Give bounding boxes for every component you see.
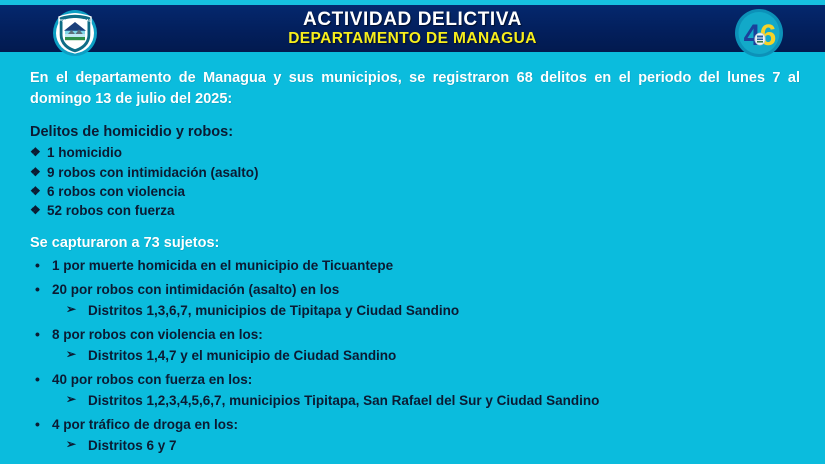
dot-bullet-icon: • bbox=[35, 325, 40, 343]
capture-sub-line: ➢ Distritos 1,3,6,7, municipios de Tipit… bbox=[30, 302, 803, 320]
list-item: ❖ 52 robos con fuerza bbox=[30, 202, 803, 220]
capture-label: 1 por muerte homicida en el municipio de… bbox=[52, 258, 393, 273]
capture-main-line: • 20 por robos con intimidación (asalto)… bbox=[30, 281, 803, 299]
list-item: • 40 por robos con fuerza en los: ➢ Dist… bbox=[30, 371, 803, 410]
capture-label: 40 por robos con fuerza en los: bbox=[52, 372, 252, 387]
capture-sub-label: Distritos 1,4,7 y el municipio de Ciudad… bbox=[88, 348, 396, 363]
dot-bullet-icon: • bbox=[35, 415, 40, 433]
captures-list: • 1 por muerte homicida en el municipio … bbox=[30, 257, 803, 455]
header-band: POLICIA NACIONAL ACTIVIDAD DELICTIVA DEP… bbox=[0, 5, 825, 52]
slide-root: POLICIA NACIONAL ACTIVIDAD DELICTIVA DEP… bbox=[0, 0, 825, 464]
46-aniversario-logo-icon: 4 6 bbox=[733, 8, 785, 58]
capture-label: 4 por tráfico de droga en los: bbox=[52, 417, 238, 432]
capture-sub-line: ➢ Distritos 6 y 7 bbox=[30, 437, 803, 455]
dot-bullet-icon: • bbox=[35, 370, 40, 388]
diamond-bullet-icon: ❖ bbox=[30, 144, 41, 160]
intro-paragraph: En el departamento de Managua y sus muni… bbox=[30, 68, 800, 110]
arrow-bullet-icon: ➢ bbox=[66, 302, 76, 318]
diamond-bullet-icon: ❖ bbox=[30, 164, 41, 180]
capture-label: 20 por robos con intimidación (asalto) e… bbox=[52, 282, 339, 297]
header-title-group: ACTIVIDAD DELICTIVA DEPARTAMENTO DE MANA… bbox=[288, 10, 537, 47]
capture-sub-line: ➢ Distritos 1,4,7 y el municipio de Ciud… bbox=[30, 347, 803, 365]
capture-main-line: • 40 por robos con fuerza en los: bbox=[30, 371, 803, 389]
capture-sub-line: ➢ Distritos 1,2,3,4,5,6,7, municipios Ti… bbox=[30, 392, 803, 410]
list-item: • 4 por tráfico de droga en los: ➢ Distr… bbox=[30, 416, 803, 455]
svg-text:POLICIA NACIONAL: POLICIA NACIONAL bbox=[59, 18, 91, 22]
dot-bullet-icon: • bbox=[35, 256, 40, 274]
list-item: ❖ 1 homicidio bbox=[30, 144, 803, 162]
list-item: • 1 por muerte homicida en el municipio … bbox=[30, 257, 803, 275]
capture-main-line: • 1 por muerte homicida en el municipio … bbox=[30, 257, 803, 275]
list-item: • 8 por robos con violencia en los: ➢ Di… bbox=[30, 326, 803, 365]
arrow-bullet-icon: ➢ bbox=[66, 437, 76, 453]
arrow-bullet-icon: ➢ bbox=[66, 392, 76, 408]
diamond-bullet-icon: ❖ bbox=[30, 183, 41, 199]
arrow-bullet-icon: ➢ bbox=[66, 347, 76, 363]
capture-main-line: • 4 por tráfico de droga en los: bbox=[30, 416, 803, 434]
list-item: ❖ 9 robos con intimidación (asalto) bbox=[30, 164, 803, 182]
crimes-list: ❖ 1 homicidio ❖ 9 robos con intimidación… bbox=[30, 144, 803, 221]
capture-sub-label: Distritos 1,3,6,7, municipios de Tipitap… bbox=[88, 303, 459, 318]
policia-nacional-badge-icon: POLICIA NACIONAL bbox=[50, 9, 100, 57]
capture-label: 8 por robos con violencia en los: bbox=[52, 327, 263, 342]
diamond-bullet-icon: ❖ bbox=[30, 202, 41, 218]
page-title: ACTIVIDAD DELICTIVA bbox=[288, 10, 537, 29]
capture-sub-label: Distritos 1,2,3,4,5,6,7, municipios Tipi… bbox=[88, 393, 599, 408]
list-item-label: 1 homicidio bbox=[47, 145, 122, 160]
list-item-label: 52 robos con fuerza bbox=[47, 203, 175, 218]
list-item: ❖ 6 robos con violencia bbox=[30, 183, 803, 201]
slide-body: En el departamento de Managua y sus muni… bbox=[0, 52, 825, 464]
page-subtitle: DEPARTAMENTO DE MANAGUA bbox=[288, 31, 537, 47]
dot-bullet-icon: • bbox=[35, 280, 40, 298]
list-item: • 20 por robos con intimidación (asalto)… bbox=[30, 281, 803, 320]
crimes-heading: Delitos de homicidio y robos: bbox=[30, 124, 803, 140]
list-item-label: 6 robos con violencia bbox=[47, 184, 185, 199]
capture-main-line: • 8 por robos con violencia en los: bbox=[30, 326, 803, 344]
list-item-label: 9 robos con intimidación (asalto) bbox=[47, 165, 259, 180]
captures-heading: Se capturaron a 73 sujetos: bbox=[30, 235, 803, 251]
capture-sub-label: Distritos 6 y 7 bbox=[88, 438, 177, 453]
